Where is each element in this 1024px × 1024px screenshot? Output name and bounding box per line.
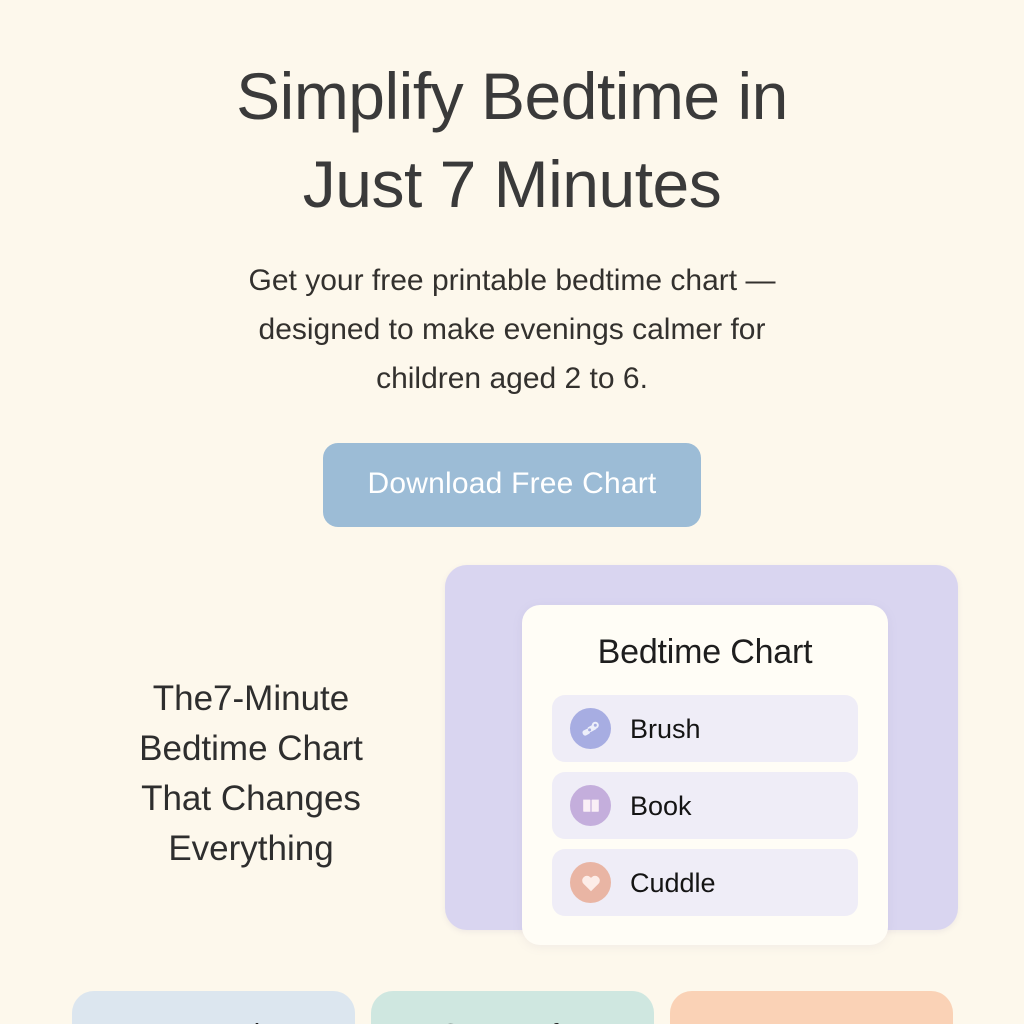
feature-card-label: Support for — [371, 1018, 654, 1024]
landing-page: Simplify Bedtime in Just 7 Minutes Get y… — [0, 0, 1024, 1024]
feature-card-label: Easy Routines — [72, 1018, 355, 1024]
cta-container: Download Free Chart — [0, 443, 1024, 527]
list-item-label: Cuddle — [630, 868, 716, 898]
download-free-chart-button[interactable]: Download Free Chart — [323, 443, 702, 527]
page-title: Simplify Bedtime in Just 7 Minutes — [0, 0, 1024, 228]
feature-card-label: Free Resources — [670, 1018, 953, 1024]
section-heading: The7-Minute Bedtime Chart That Changes E… — [96, 674, 406, 874]
hero-section: Simplify Bedtime in Just 7 Minutes Get y… — [0, 0, 1024, 403]
bedtime-chart-card: Bedtime Chart — [522, 605, 888, 945]
feature-card-easy-routines[interactable]: Easy Routines — [72, 991, 355, 1024]
list-item[interactable]: Cuddle — [552, 849, 858, 916]
feature-card-support-for[interactable]: Support for — [371, 991, 654, 1024]
list-item-label: Book — [630, 791, 692, 821]
list-item-label: Brush — [630, 714, 701, 744]
feature-card-row: Easy Routines Support for Free Resources — [72, 991, 953, 1024]
open-book-icon — [570, 785, 611, 826]
toothbrush-icon — [570, 708, 611, 749]
list-item[interactable]: Brush — [552, 695, 858, 762]
feature-card-free-resources[interactable]: Free Resources — [670, 991, 953, 1024]
chart-card-title: Bedtime Chart — [522, 605, 888, 673]
chart-preview-frame: Bedtime Chart — [445, 565, 958, 930]
list-item[interactable]: Book — [552, 772, 858, 839]
heart-icon — [570, 862, 611, 903]
hero-subtitle: Get your free printable bedtime chart — … — [192, 228, 832, 403]
chart-routine-list: Brush Book — [522, 673, 888, 916]
